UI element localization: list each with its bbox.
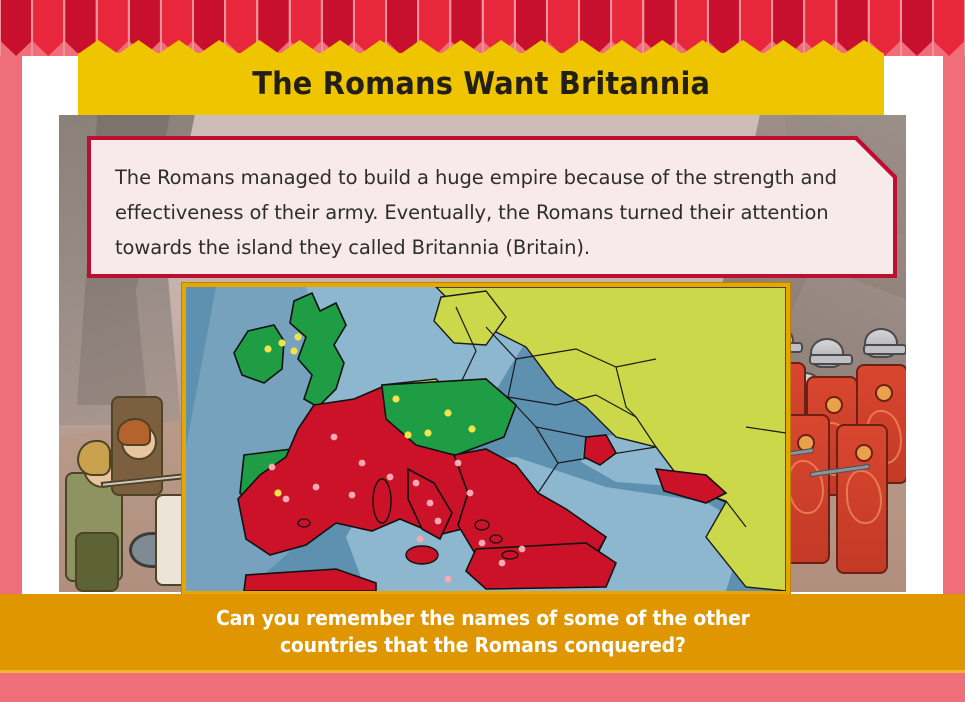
question-line-1: Can you remember the names of some of th… <box>216 605 750 632</box>
chevron-stripe-icon <box>933 0 965 56</box>
celt-warrior-2-hair <box>117 418 151 446</box>
roman-helmet-icon <box>810 338 844 368</box>
roman-scutum-shield-icon <box>836 424 888 574</box>
chevron-stripe-icon <box>901 0 933 56</box>
celt-warrior-trousers <box>75 532 119 592</box>
roman-empire-map <box>182 283 790 595</box>
textbox-inner: The Romans managed to build a huge empir… <box>91 140 893 274</box>
roman-helmet-icon <box>864 328 898 358</box>
celt-warrior-hair <box>77 440 111 476</box>
question-banner: Can you remember the names of some of th… <box>0 594 965 673</box>
information-textbox: The Romans managed to build a huge empir… <box>87 136 897 278</box>
map-region-asia-minor <box>466 543 616 589</box>
slide-root: The Romans Want Britannia <box>0 0 965 702</box>
frame-border-bottom <box>0 673 965 702</box>
map-island-balearic <box>298 519 310 527</box>
map-island-crete <box>502 551 518 559</box>
title-banner: The Romans Want Britannia <box>78 53 884 115</box>
map-island-aegean-1 <box>475 520 489 530</box>
map-island-sicily <box>406 546 438 564</box>
chevron-stripe-icon <box>32 0 64 56</box>
page-title: The Romans Want Britannia <box>252 66 710 102</box>
map-graphic <box>186 287 786 591</box>
chevron-stripe-icon <box>0 0 32 56</box>
body-paragraph: The Romans managed to build a huge empir… <box>115 160 867 265</box>
map-island-aegean-2 <box>490 535 502 543</box>
question-line-2: countries that the Romans conquered? <box>280 632 686 659</box>
map-viewport <box>186 287 786 591</box>
map-island-corsica-sardinia <box>373 479 391 523</box>
